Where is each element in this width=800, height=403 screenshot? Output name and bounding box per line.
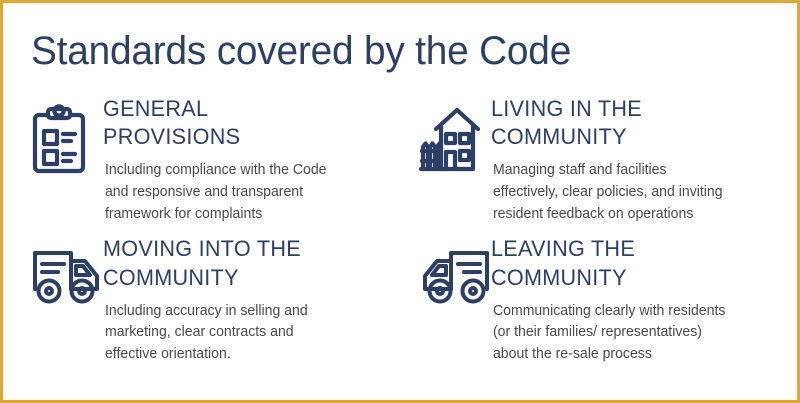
card-heading: LEAVING THE COMMUNITY xyxy=(491,235,785,291)
card-body-line: about the re-sale process xyxy=(493,344,792,366)
clipboard-checklist-icon xyxy=(31,95,99,175)
card-heading-line: COMMUNITY xyxy=(103,265,239,290)
card-body-line: Managing staff and facilities xyxy=(493,160,792,182)
card-body-line: Communicating clearly with residents xyxy=(493,301,792,323)
card-body-line: (or their families/ representatives) xyxy=(493,322,792,344)
card-text: MOVING INTO THE COMMUNITY Including accu… xyxy=(99,235,400,365)
card-text: LIVING IN THE COMMUNITY Managing staff a… xyxy=(487,95,797,225)
card-heading: GENERAL PROVISIONS xyxy=(103,95,388,151)
card-body: Managing staff and facilities effectivel… xyxy=(491,160,792,225)
card-heading-line: LEAVING THE xyxy=(491,236,635,261)
card-body: Including compliance with the Code and r… xyxy=(103,160,396,225)
card-text: GENERAL PROVISIONS Including compliance … xyxy=(99,95,400,225)
page-title: Standards covered by the Code xyxy=(31,29,571,73)
card-heading-line: GENERAL xyxy=(103,96,208,121)
card-body-line: effectively, clear policies, and invitin… xyxy=(493,182,792,204)
card-body-line: Including accuracy in selling and xyxy=(105,301,396,323)
standard-card-leaving-the-community: LEAVING THE COMMUNITY Communicating clea… xyxy=(400,235,797,365)
card-heading-line: PROVISIONS xyxy=(103,124,240,149)
card-body: Communicating clearly with residents (or… xyxy=(491,301,792,366)
standard-card-moving-into-the-community: MOVING INTO THE COMMUNITY Including accu… xyxy=(3,235,400,365)
card-body-line: effective orientation. xyxy=(105,344,396,366)
card-heading-line: LIVING IN THE xyxy=(491,96,642,121)
card-body-line: framework for complaints xyxy=(105,204,396,226)
infographic-frame: Standards covered by the Code xyxy=(0,0,800,403)
card-heading-line: MOVING INTO THE xyxy=(103,236,301,261)
moving-truck-left-icon xyxy=(419,235,487,315)
card-heading-line: COMMUNITY xyxy=(491,265,627,290)
card-body-line: and responsive and transparent xyxy=(105,182,396,204)
moving-truck-right-icon xyxy=(31,235,99,315)
house-with-fence-icon xyxy=(419,95,487,175)
card-heading-line: COMMUNITY xyxy=(491,124,627,149)
standards-grid: GENERAL PROVISIONS Including compliance … xyxy=(3,95,797,366)
standard-card-general-provisions: GENERAL PROVISIONS Including compliance … xyxy=(3,95,400,225)
standard-card-living-in-the-community: LIVING IN THE COMMUNITY Managing staff a… xyxy=(400,95,797,225)
card-body-line: Including compliance with the Code xyxy=(105,160,396,182)
card-body: Including accuracy in selling and market… xyxy=(103,301,396,366)
card-body-line: resident feedback on operations xyxy=(493,204,792,226)
card-heading: MOVING INTO THE COMMUNITY xyxy=(103,235,388,291)
card-text: LEAVING THE COMMUNITY Communicating clea… xyxy=(487,235,797,365)
card-body-line: marketing, clear contracts and xyxy=(105,322,396,344)
card-heading: LIVING IN THE COMMUNITY xyxy=(491,95,785,151)
